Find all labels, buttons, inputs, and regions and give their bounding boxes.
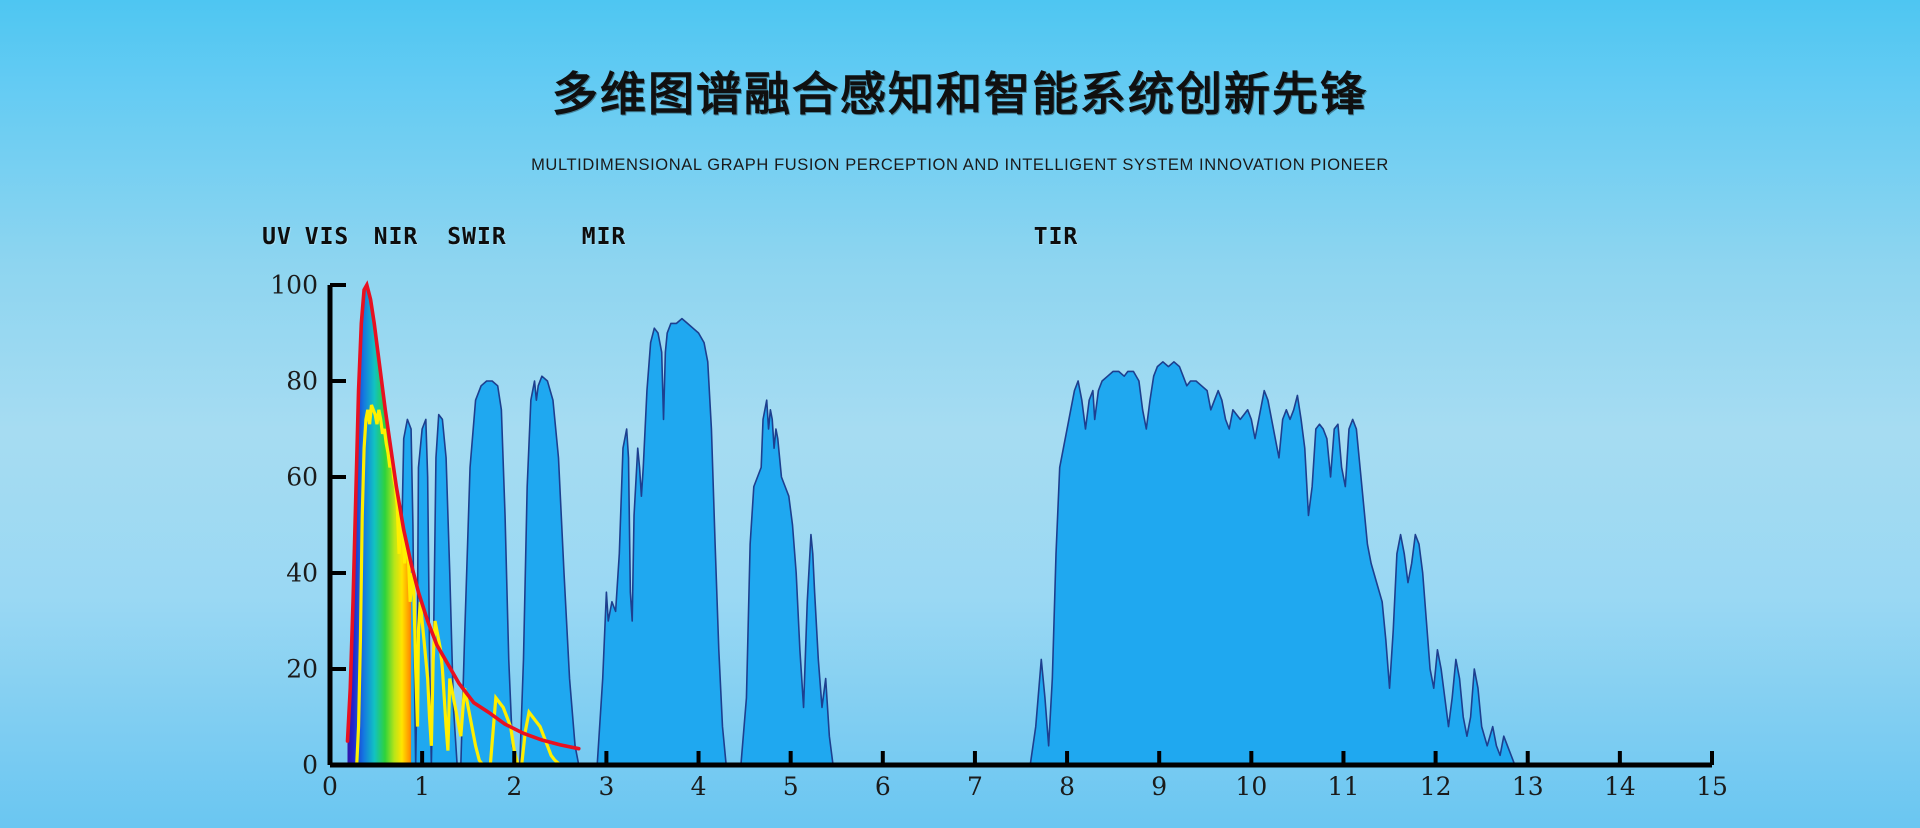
- x-tick-label-11: 11: [1328, 772, 1360, 801]
- x-tick-label-0: 0: [322, 772, 338, 801]
- x-tick-label-8: 8: [1059, 772, 1075, 801]
- x-tick-label-6: 6: [875, 772, 891, 801]
- poster-root: 多维图谱融合感知和智能系统创新先锋 MULTIDIMENSIONAL GRAPH…: [0, 0, 1920, 828]
- y-tick-label-20: 20: [258, 655, 318, 684]
- x-tick-label-5: 5: [783, 772, 799, 801]
- x-tick-label-1: 1: [414, 772, 430, 801]
- x-tick-label-15: 15: [1696, 772, 1728, 801]
- x-tick-label-3: 3: [598, 772, 614, 801]
- x-tick-label-9: 9: [1151, 772, 1167, 801]
- band-label-nir: NIR: [374, 224, 419, 250]
- band-label-mir: MIR: [582, 224, 627, 250]
- y-tick-label-80: 80: [258, 367, 318, 396]
- x-tick-label-2: 2: [506, 772, 522, 801]
- y-tick-label-40: 40: [258, 559, 318, 588]
- x-tick-label-12: 12: [1420, 772, 1452, 801]
- spectrum-chart: [0, 0, 1920, 828]
- x-tick-label-10: 10: [1235, 772, 1267, 801]
- band-label-uv: UV: [262, 224, 292, 250]
- band-label-tir: TIR: [1034, 224, 1079, 250]
- band-label-vis: VIS: [305, 224, 350, 250]
- band-label-swir: SWIR: [447, 224, 506, 250]
- x-tick-label-7: 7: [967, 772, 983, 801]
- y-tick-label-100: 100: [258, 271, 318, 300]
- y-tick-label-60: 60: [258, 463, 318, 492]
- x-tick-label-13: 13: [1512, 772, 1544, 801]
- x-tick-label-14: 14: [1604, 772, 1636, 801]
- y-tick-label-0: 0: [258, 751, 318, 780]
- x-tick-label-4: 4: [691, 772, 707, 801]
